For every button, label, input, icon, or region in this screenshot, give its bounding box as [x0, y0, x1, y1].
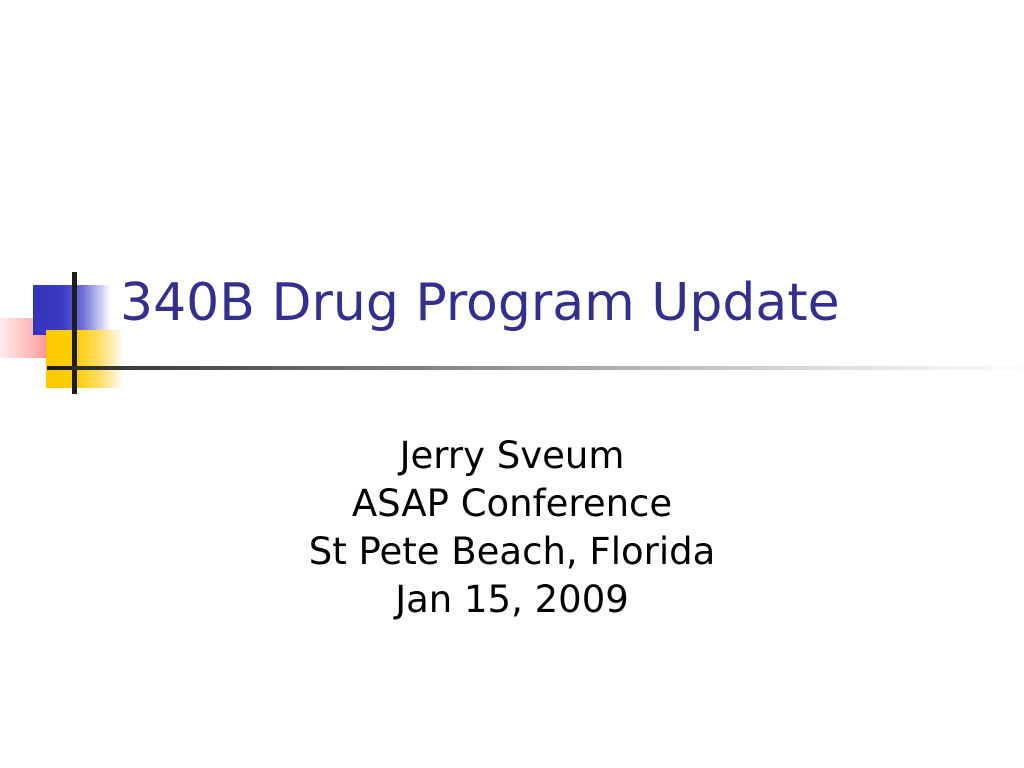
- decorative-vertical-bar: [72, 272, 77, 394]
- title-divider-rule: [72, 366, 1024, 370]
- subtitle-line-date: Jan 15, 2009: [162, 576, 862, 624]
- subtitle-line-presenter: Jerry Sveum: [162, 432, 862, 480]
- decorative-yellow-block: [46, 330, 124, 388]
- subtitle-line-event: ASAP Conference: [162, 480, 862, 528]
- subtitle-block: Jerry Sveum ASAP Conference St Pete Beac…: [162, 432, 862, 624]
- title-slide: 340B Drug Program Update Jerry Sveum ASA…: [0, 0, 1024, 768]
- page-title: 340B Drug Program Update: [120, 272, 980, 334]
- subtitle-line-location: St Pete Beach, Florida: [162, 528, 862, 576]
